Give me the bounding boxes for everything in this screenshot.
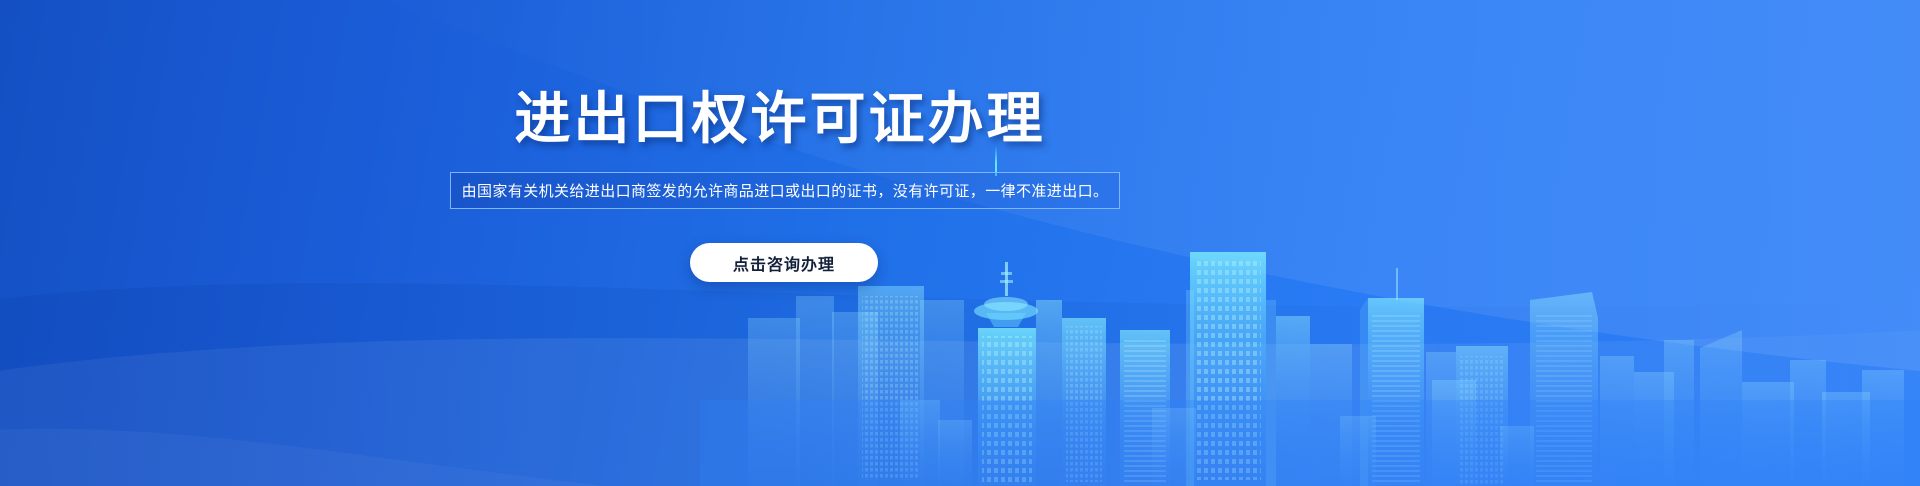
consult-cta-button[interactable]: 点击咨询办理	[690, 243, 878, 282]
page-title: 进出口权许可证办理	[0, 88, 1920, 151]
subtitle-box: 由国家有关机关给进出口商签发的允许商品进口或出口的证书，没有许可证，一律不准进出…	[450, 172, 1120, 209]
banner-content: 进出口权许可证办理 由国家有关机关给进出口商签发的允许商品进口或出口的证书，没有…	[0, 0, 1920, 486]
subtitle-text: 由国家有关机关给进出口商签发的允许商品进口或出口的证书，没有许可证，一律不准进出…	[462, 180, 1109, 201]
promo-banner: 进出口权许可证办理 由国家有关机关给进出口商签发的允许商品进口或出口的证书，没有…	[0, 0, 1920, 486]
page-title-text: 进出口权许可证办理	[515, 88, 1046, 151]
